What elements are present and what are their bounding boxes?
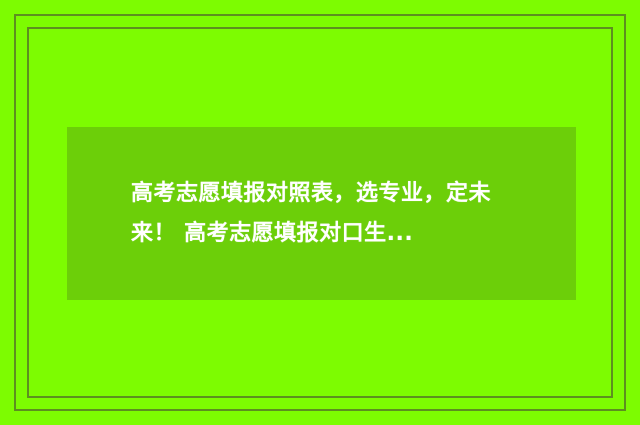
headline-text: 高考志愿填报对照表，选专业，定未来！ 高考志愿填报对口生... (131, 174, 526, 254)
page-canvas: 高考志愿填报对照表，选专业，定未来！ 高考志愿填报对口生... (0, 0, 640, 425)
headline-panel: 高考志愿填报对照表，选专业，定未来！ 高考志愿填报对口生... (67, 127, 576, 300)
